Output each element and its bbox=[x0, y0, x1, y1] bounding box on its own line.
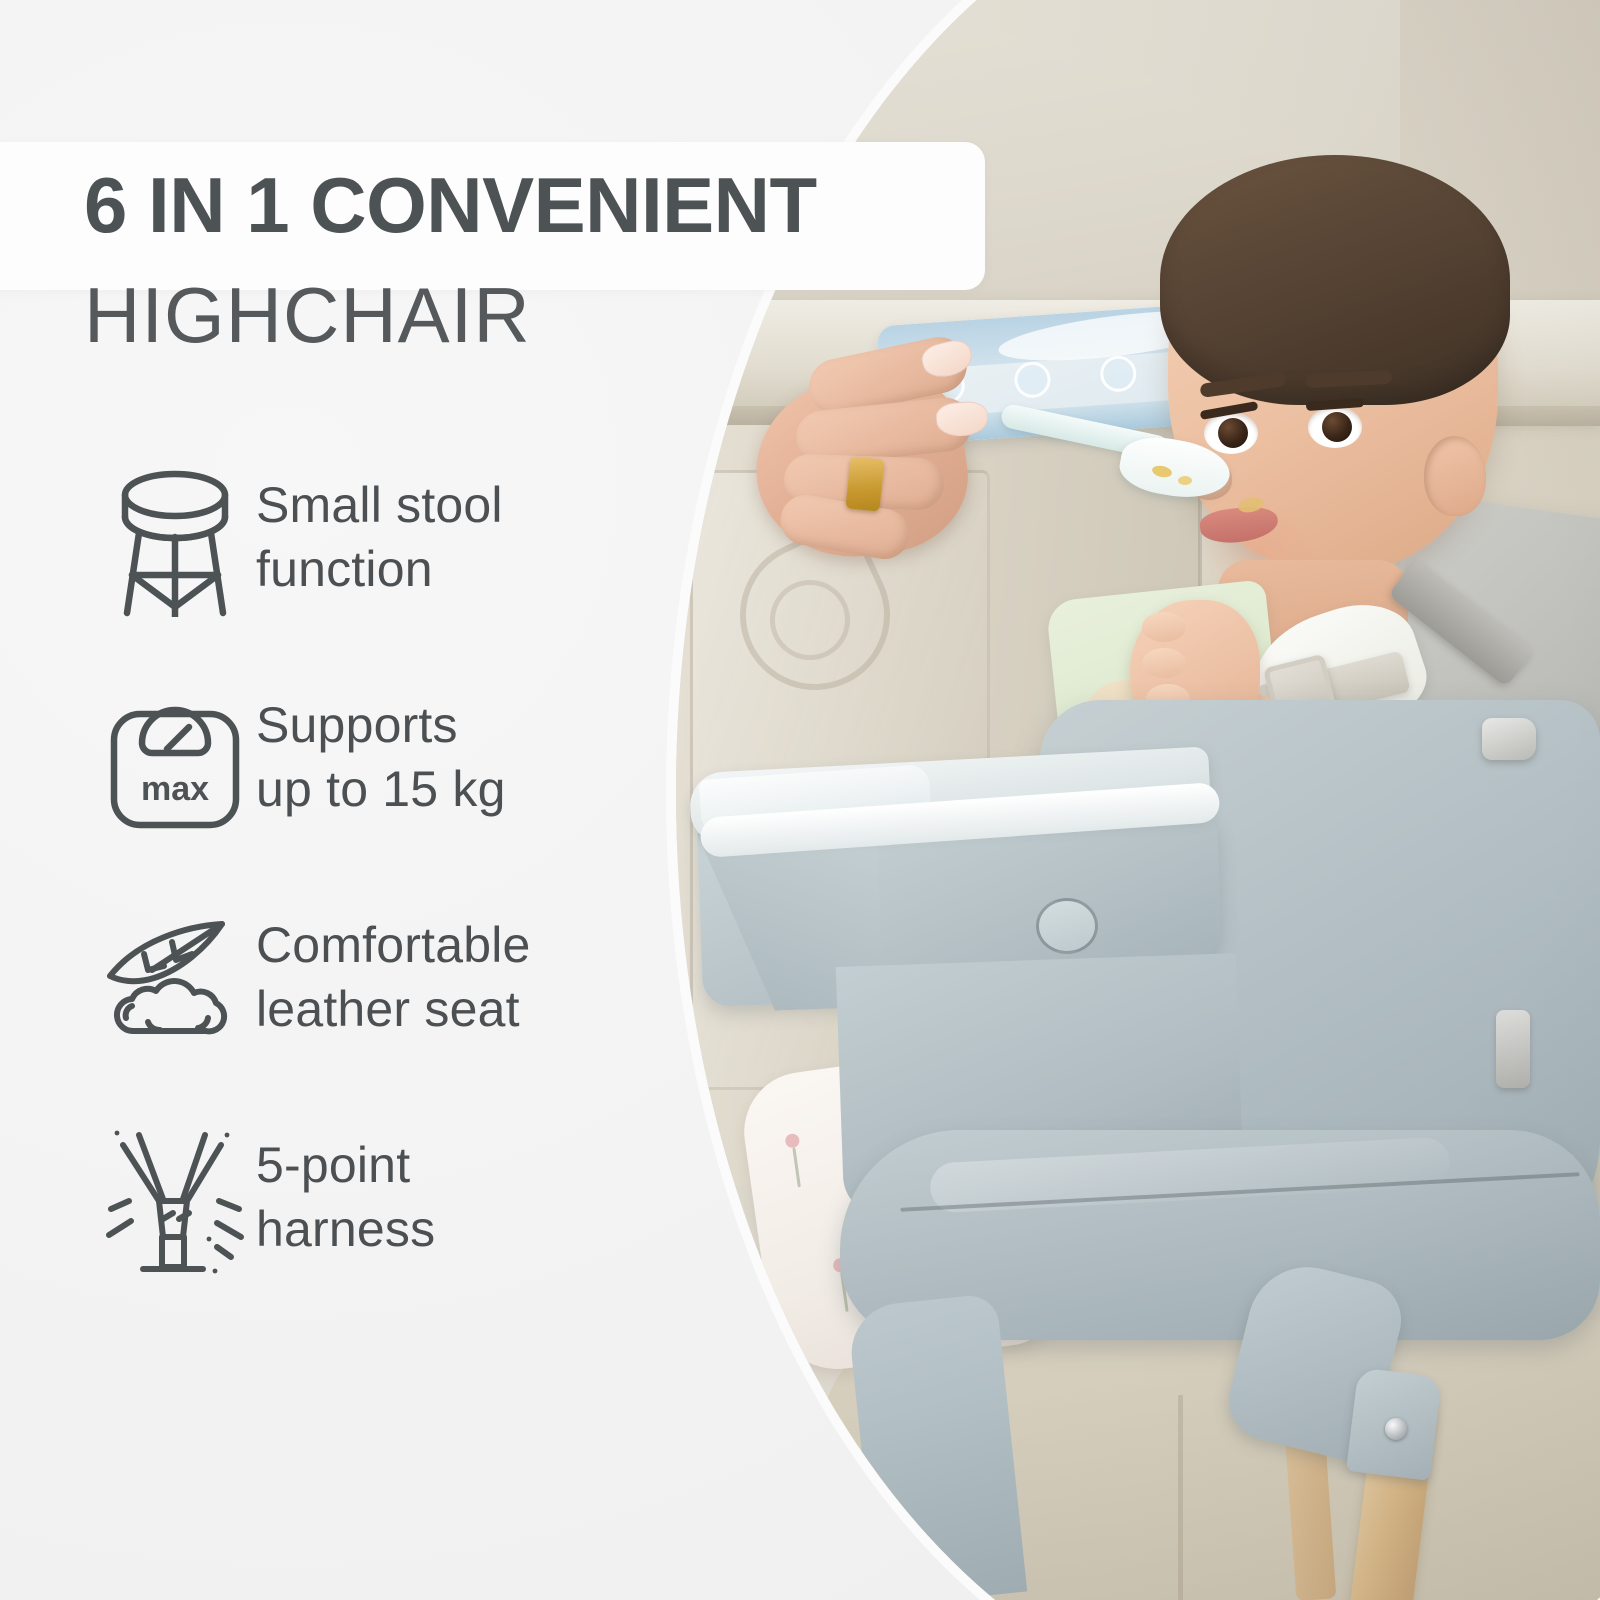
mother-hand bbox=[736, 330, 1036, 590]
feature-label-stool: Small stool function bbox=[256, 473, 656, 601]
feather-cloud-icon bbox=[100, 907, 250, 1057]
baby-ear bbox=[1424, 436, 1486, 516]
cabinet-ornament bbox=[770, 580, 850, 660]
baby-hair bbox=[1160, 155, 1510, 405]
highchair-adjust-knob bbox=[1482, 718, 1536, 760]
infographic-canvas: 6 IN 1 CONVENIENT HIGHCHAIR Small stool … bbox=[0, 0, 1600, 1600]
highchair-adjust-knob bbox=[1496, 1010, 1530, 1088]
leg-screw bbox=[1385, 1418, 1407, 1440]
max-label: max bbox=[141, 770, 209, 808]
weight-scale-max-icon: max bbox=[100, 687, 250, 837]
baby-eye bbox=[1204, 412, 1258, 454]
highchair-frame-arm bbox=[847, 1293, 1028, 1600]
page-subtitle: HIGHCHAIR bbox=[84, 276, 531, 354]
bar-stool-icon bbox=[100, 467, 250, 617]
floor-seam bbox=[1178, 1395, 1183, 1600]
food-on-spoon bbox=[1178, 476, 1192, 485]
feature-label-harness: 5-point harness bbox=[256, 1133, 656, 1261]
feature-label-weight: Supports up to 15 kg bbox=[256, 693, 656, 821]
feature-list: Small stool function max Supports up to … bbox=[0, 455, 660, 1335]
feature-item-comfort: Comfortable leather seat bbox=[0, 895, 660, 1115]
baby-eye bbox=[1308, 406, 1362, 448]
five-point-harness-icon bbox=[100, 1127, 250, 1277]
feature-item-harness: 5-point harness bbox=[0, 1115, 660, 1335]
feature-item-stool: Small stool function bbox=[0, 455, 660, 675]
page-title: 6 IN 1 CONVENIENT bbox=[84, 166, 817, 244]
feature-item-weight: max Supports up to 15 kg bbox=[0, 675, 660, 895]
tray-release-button bbox=[1036, 898, 1098, 954]
feature-label-comfort: Comfortable leather seat bbox=[256, 913, 656, 1041]
gold-ring bbox=[845, 456, 884, 511]
